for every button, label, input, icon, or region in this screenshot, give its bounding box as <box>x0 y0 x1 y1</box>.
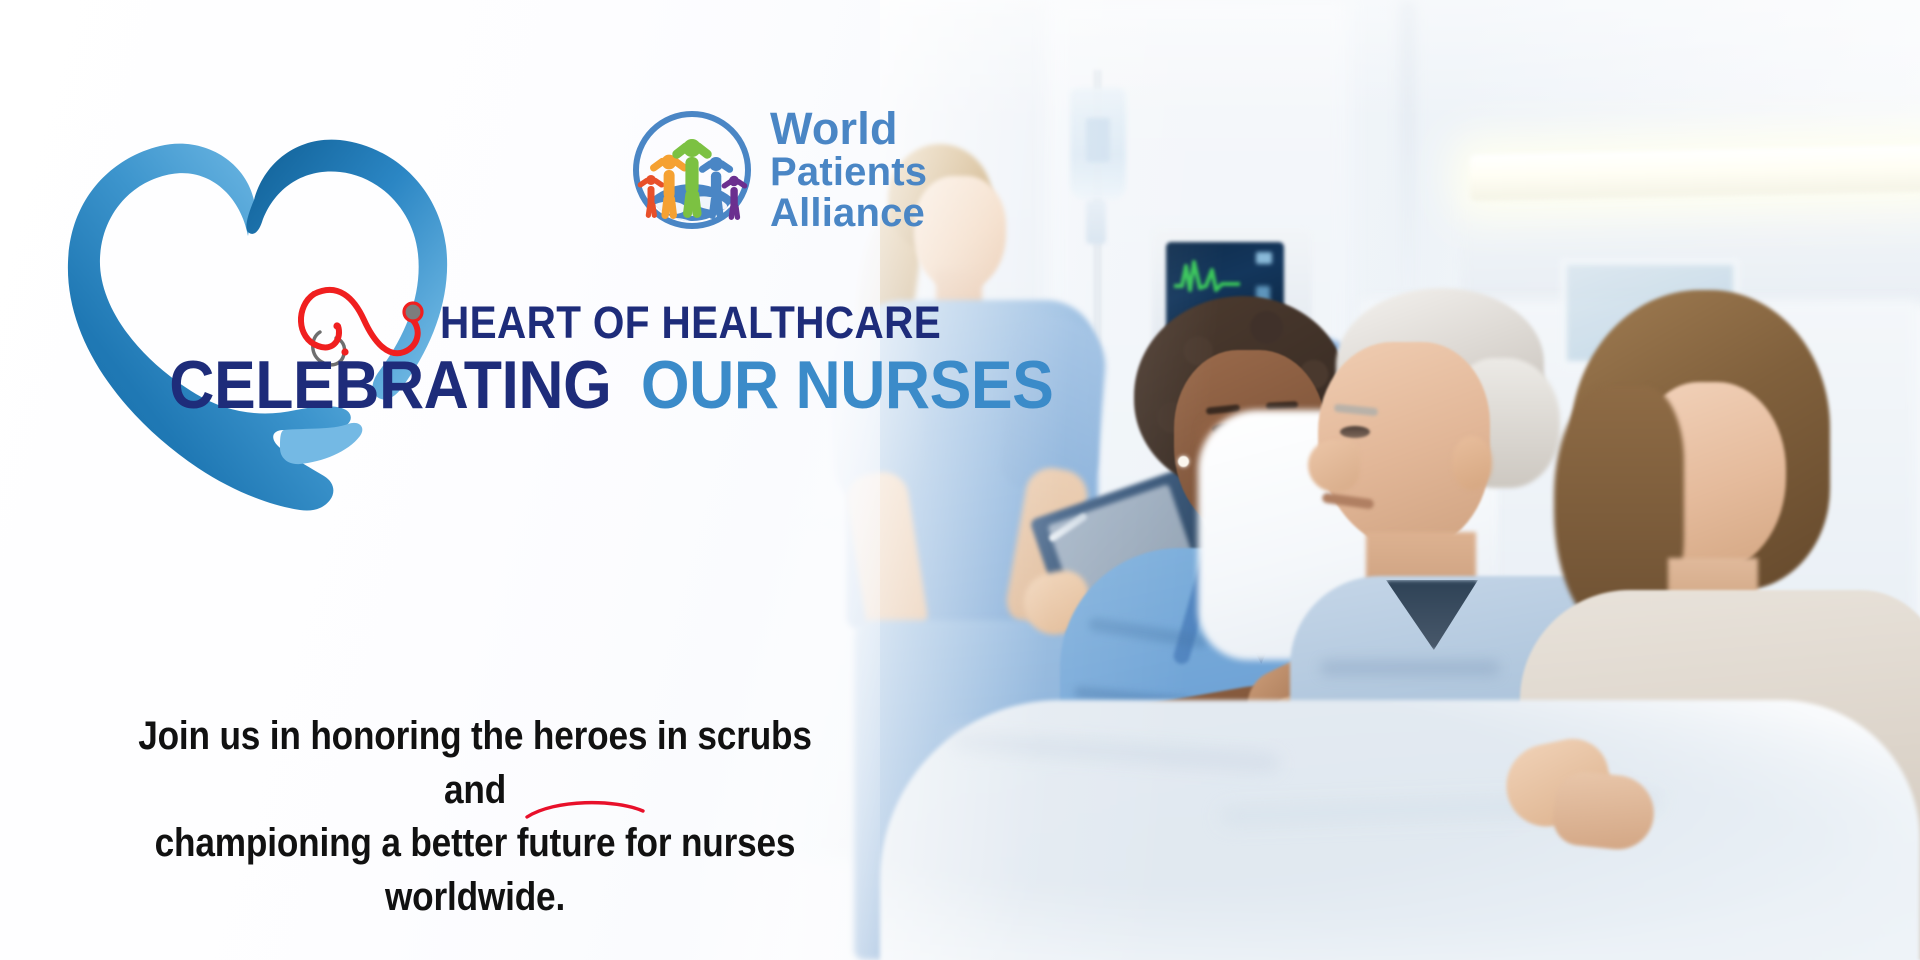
red-curved-underline-icon <box>525 795 645 823</box>
headline-block: HEART OF HEALTHCARE CELEBRATING OUR NURS… <box>150 300 910 419</box>
ear <box>1452 436 1492 490</box>
eye <box>1340 426 1370 438</box>
world-patients-alliance-emblem-icon <box>630 108 754 232</box>
fabric-fold <box>1320 660 1500 676</box>
nose <box>1308 440 1360 492</box>
tagline-block: Join us in honoring the heroes in scrubs… <box>60 710 890 924</box>
headline-word-celebrating: CELEBRATING <box>169 351 611 419</box>
ecg-waveform-icon <box>1174 256 1240 296</box>
wpa-line-2: Patients <box>770 152 927 193</box>
earring-icon <box>1178 456 1189 467</box>
overhead-light-strip-icon <box>1470 145 1920 201</box>
headline-kicker: HEART OF HEALTHCARE <box>440 300 941 345</box>
tagline-line-2: championing a better future for nurses w… <box>110 817 840 924</box>
headline-word-our-nurses: OUR NURSES <box>640 351 1053 419</box>
tagline-line-1: Join us in honoring the heroes in scrubs… <box>110 710 840 817</box>
wall-seam <box>1400 0 1416 300</box>
wpa-line-1: World <box>770 106 927 152</box>
nurses-celebration-banner: World Patients Alliance HEART OF HEALTHC… <box>0 0 1920 960</box>
monitor-readout <box>1256 252 1272 264</box>
wpa-line-3: Alliance <box>770 193 927 234</box>
world-patients-alliance-logo: World Patients Alliance <box>630 95 1020 245</box>
world-patients-alliance-wordmark: World Patients Alliance <box>770 106 927 233</box>
